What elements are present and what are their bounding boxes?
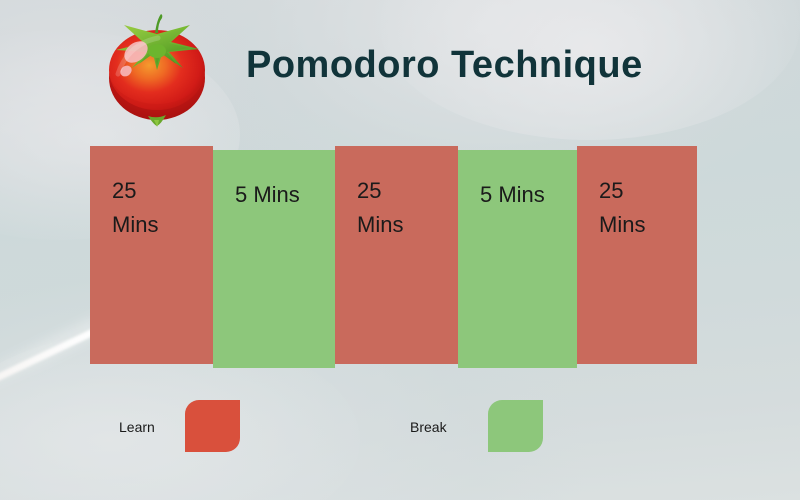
- slide-canvas: Pomodoro Technique 25 Mins 5 Mins 25 Min…: [0, 0, 800, 500]
- timeline-block-learn[interactable]: 25 Mins: [90, 146, 213, 364]
- block-line: Mins: [357, 208, 458, 242]
- block-line: 25: [357, 174, 458, 208]
- block-line: Mins: [112, 208, 213, 242]
- timeline-block-break[interactable]: 5 Mins: [213, 150, 335, 368]
- legend-swatch-break[interactable]: [488, 400, 543, 452]
- legend-swatch-learn[interactable]: [185, 400, 240, 452]
- legend-label-break: Break: [410, 419, 447, 435]
- timeline-block-learn[interactable]: 25 Mins: [335, 146, 458, 364]
- timeline-block-learn[interactable]: 25 Mins: [577, 146, 697, 364]
- block-line: 5 Mins: [235, 178, 335, 212]
- timeline-block-break[interactable]: 5 Mins: [458, 150, 577, 368]
- tomato-icon: [96, 8, 218, 128]
- legend-label-learn: Learn: [119, 419, 155, 435]
- block-line: 5 Mins: [480, 178, 577, 212]
- block-line: 25: [112, 174, 213, 208]
- page-title: Pomodoro Technique: [246, 44, 643, 87]
- block-line: Mins: [599, 208, 697, 242]
- block-line: 25: [599, 174, 697, 208]
